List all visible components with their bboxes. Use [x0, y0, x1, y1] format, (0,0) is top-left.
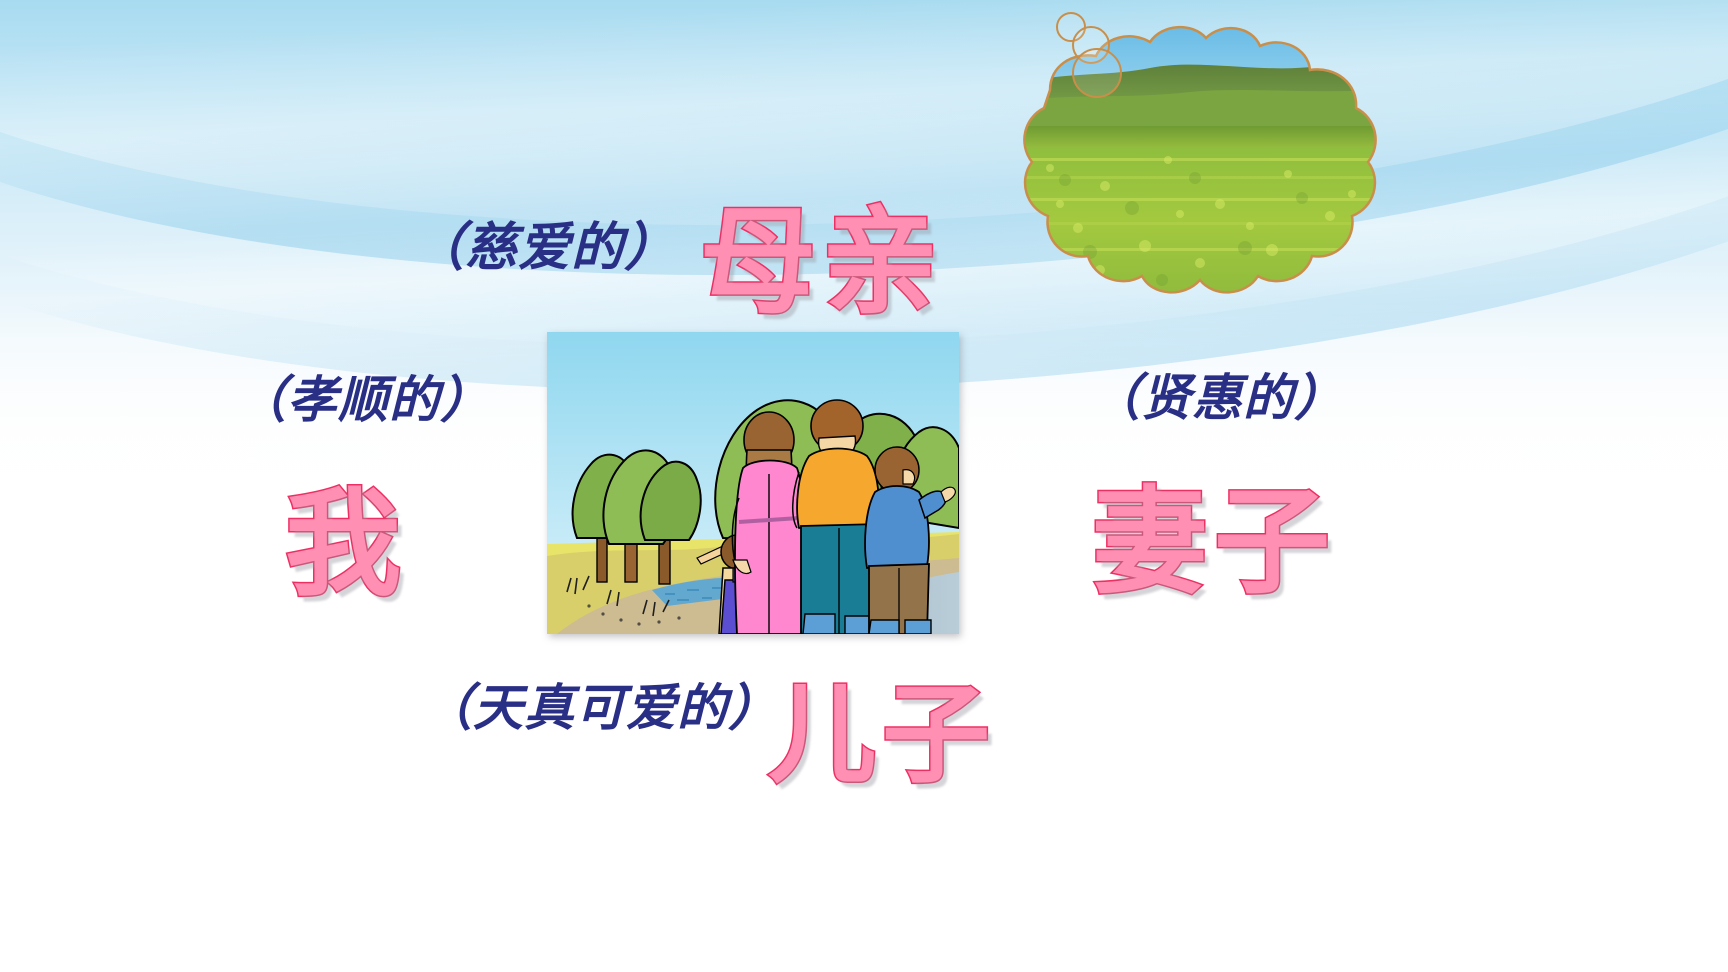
thought-bubble-circle-large: [1072, 48, 1122, 98]
noun-mother: 母亲: [700, 168, 944, 336]
noun-son: 儿子: [768, 648, 996, 804]
cloud-shaped-field-photo: [900, 8, 1390, 308]
adjective-me: （孝顺的）: [236, 360, 491, 432]
noun-wife: 妻子: [1092, 448, 1336, 616]
family-illustration: [547, 332, 959, 634]
adjective-wife: （贤惠的）: [1090, 358, 1345, 430]
adjective-mother: （慈爱的）: [412, 205, 677, 280]
slide-canvas: （慈爱的） 母亲 （孝顺的） 我 （贤惠的） 妻子 （天真可爱的） 儿子: [0, 0, 1728, 972]
noun-me: 我: [285, 450, 407, 618]
adjective-son: （天真可爱的）: [422, 668, 779, 740]
